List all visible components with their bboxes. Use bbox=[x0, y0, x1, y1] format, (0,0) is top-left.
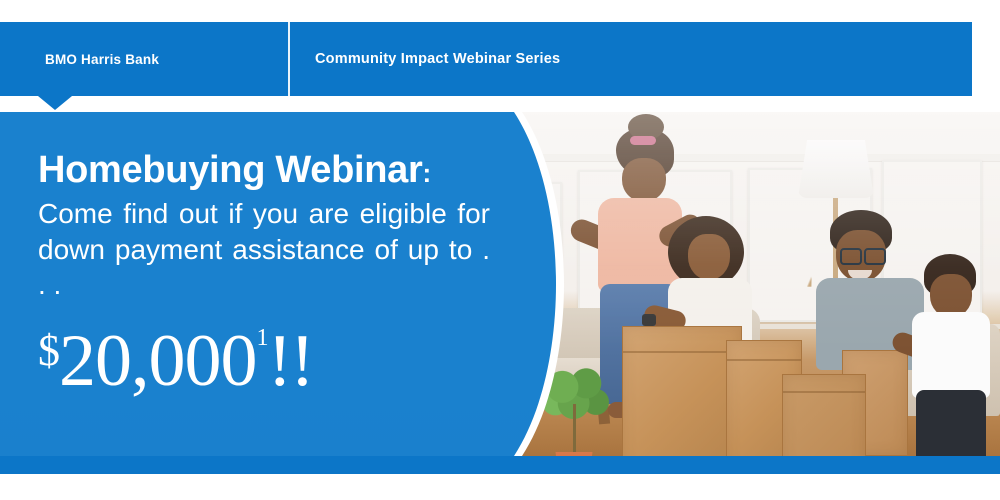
moving-box bbox=[782, 374, 866, 456]
headline-colon: : bbox=[423, 158, 431, 188]
father-glasses-icon bbox=[840, 248, 862, 265]
mother-watch bbox=[642, 314, 656, 326]
boy-pants bbox=[916, 390, 986, 456]
box-seam bbox=[783, 391, 865, 393]
girl-face bbox=[622, 158, 666, 202]
potted-plant-stem bbox=[573, 404, 576, 456]
brand-name: BMO Harris Bank bbox=[45, 22, 159, 96]
header-notch-triangle-icon bbox=[38, 96, 72, 110]
girl-hair-tie bbox=[630, 136, 656, 145]
box-seam bbox=[727, 359, 801, 361]
amount-value: 20,000 bbox=[59, 320, 257, 402]
webinar-banner: BMO Harris Bank Community Impact Webinar… bbox=[0, 0, 1000, 500]
footnote-marker: 1 bbox=[257, 325, 268, 351]
mother-face bbox=[688, 234, 730, 280]
father-glasses-icon bbox=[864, 248, 886, 265]
header-divider bbox=[288, 22, 290, 96]
amount-display: $20,0001!! bbox=[38, 324, 490, 398]
currency-symbol: $ bbox=[38, 326, 59, 375]
boy-shirt bbox=[912, 312, 990, 398]
headline-text: Homebuying Webinar bbox=[38, 149, 423, 191]
bottom-accent-strip bbox=[0, 456, 1000, 474]
moving-box bbox=[622, 326, 742, 456]
page-title: Homebuying Webinar: bbox=[38, 150, 490, 190]
floor-lamp-shade bbox=[798, 140, 874, 198]
box-seam bbox=[623, 351, 741, 353]
amount-exclamation: !! bbox=[268, 320, 313, 402]
webinar-series-title: Community Impact Webinar Series bbox=[315, 22, 560, 96]
hero-content: Homebuying Webinar: Come find out if you… bbox=[38, 150, 490, 398]
hero-subcopy: Come find out if you are eligible for do… bbox=[38, 196, 490, 302]
